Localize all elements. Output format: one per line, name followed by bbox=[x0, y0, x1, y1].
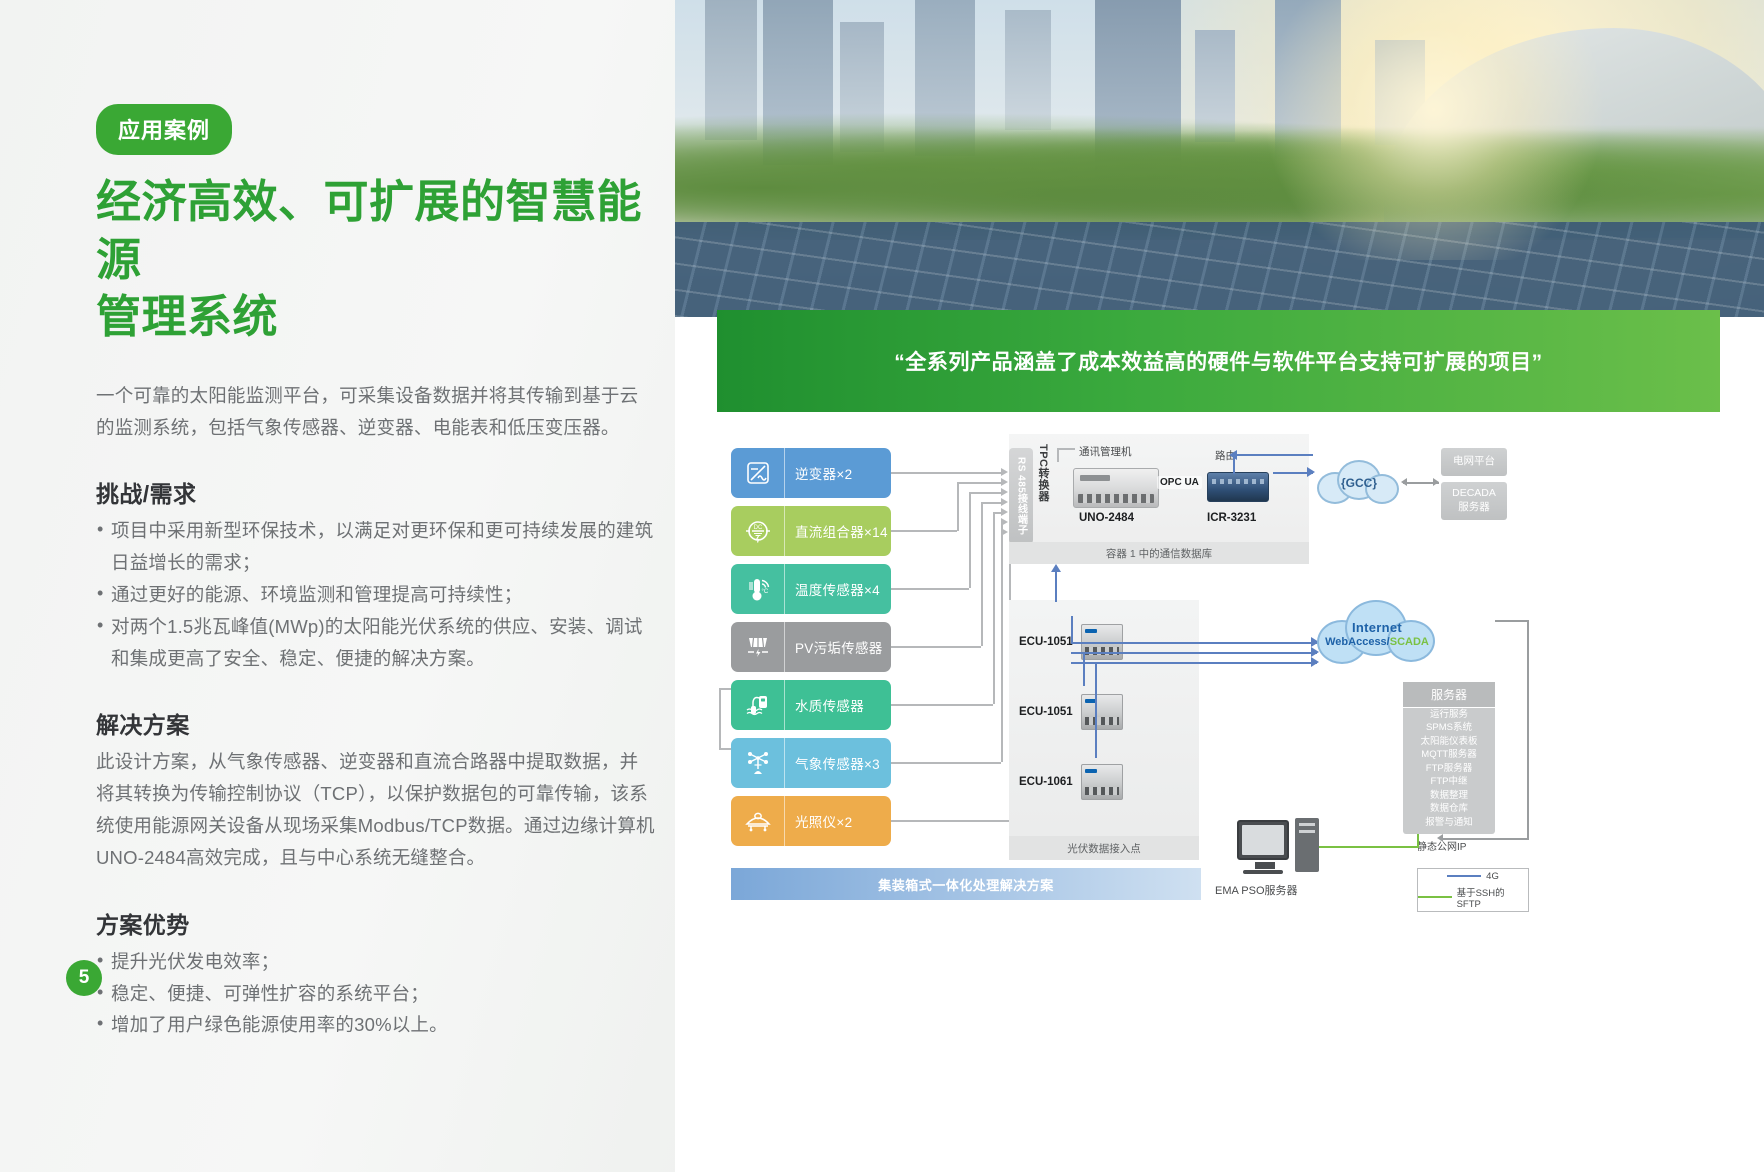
connector-line bbox=[891, 820, 1009, 822]
uno-2484-label: UNO-2484 bbox=[1079, 512, 1134, 524]
sensor-card-list: 逆变器×2 DC 直流组合器×14 °C 温度传感器×4 PV污垢传感器 bbox=[731, 448, 891, 854]
monitor-base bbox=[1243, 870, 1283, 874]
rs485-terminal-tab: RS 485接线端子 bbox=[1009, 448, 1033, 544]
connector-line bbox=[891, 646, 981, 648]
challenges-list: 项目中采用新型环保技术，以满足对更环保和更可持续发展的建筑日益增长的需求； 通过… bbox=[96, 515, 656, 674]
internet-cloud-text: Internet WebAccess/SCADA bbox=[1317, 600, 1437, 668]
monitor-screen bbox=[1242, 825, 1284, 855]
arrow-head bbox=[1001, 478, 1008, 486]
container-1-caption: 容器 1 中的通信数据库 bbox=[1009, 542, 1309, 564]
section-heading-solution: 解决方案 bbox=[96, 706, 656, 740]
legend-box: 4G 基于SSH的SFTP bbox=[1417, 868, 1529, 912]
connector-line bbox=[891, 704, 993, 706]
gcc-label: {GCC} bbox=[1317, 460, 1401, 506]
architecture-diagram: 逆变器×2 DC 直流组合器×14 °C 温度传感器×4 PV污垢传感器 bbox=[717, 420, 1739, 940]
benefits-list: 提升光伏发电效率； 稳定、便捷、可弹性扩容的系统平台； 增加了用户绿色能源使用率… bbox=[96, 946, 656, 1041]
sensor-card-label: 逆变器×2 bbox=[785, 448, 891, 498]
ecu-device-image bbox=[1081, 694, 1123, 730]
right-content-panel: “全系列产品涵盖了成本效益高的硬件与软件平台支持可扩展的项目” 逆变器×2 DC… bbox=[675, 0, 1764, 1172]
server-box-title: 服务器 bbox=[1403, 682, 1495, 708]
list-item: 项目中采用新型环保技术，以满足对更环保和更可持续发展的建筑日益增长的需求； bbox=[96, 515, 656, 579]
grid-platform-box: 电网平台 bbox=[1441, 448, 1507, 476]
connector-line bbox=[1071, 616, 1073, 642]
arrow-head bbox=[1229, 450, 1237, 460]
connector-line bbox=[969, 492, 971, 588]
ecu-device-image bbox=[1081, 764, 1123, 800]
webaccess-label: WebAccess/ bbox=[1325, 636, 1390, 648]
sensor-card-label: 直流组合器×14 bbox=[785, 506, 891, 556]
quote-text: “全系列产品涵盖了成本效益高的硬件与软件平台支持可扩展的项目” bbox=[894, 346, 1543, 376]
page-number-badge: 5 bbox=[66, 960, 102, 996]
legend-row: 4G bbox=[1447, 871, 1499, 882]
pv-panel-caption: 光伏数据接入点 bbox=[1009, 836, 1199, 860]
legend-label: 基于SSH的SFTP bbox=[1457, 885, 1528, 910]
connector-line bbox=[891, 530, 957, 532]
connector-line bbox=[1055, 570, 1057, 602]
icr-3231-label: ICR-3231 bbox=[1207, 512, 1256, 524]
connector-line bbox=[891, 472, 1001, 474]
tower-icon bbox=[1295, 818, 1319, 872]
internet-label: Internet bbox=[1352, 620, 1402, 635]
opc-ua-badge: OPC UA bbox=[1157, 476, 1202, 489]
scada-label: SCADA bbox=[1390, 636, 1429, 648]
sensor-card-inverter: 逆变器×2 bbox=[731, 448, 891, 498]
connector-line bbox=[891, 762, 1001, 764]
ecu-row: ECU-1061 bbox=[1019, 764, 1123, 800]
connector-line bbox=[719, 688, 721, 748]
legend-row: 基于SSH的SFTP bbox=[1418, 885, 1528, 910]
connector-line bbox=[891, 588, 969, 590]
list-item: 通过更好的能源、环境监测和管理提高可持续性； bbox=[96, 579, 656, 611]
arrow-head bbox=[1307, 467, 1315, 477]
connector-line bbox=[981, 502, 983, 646]
intro-paragraph: 一个可靠的太阳能监测平台，可采集设备数据并将其传输到基于云的监测系统，包括气象传… bbox=[96, 380, 656, 444]
tpc-converter-label: TPC转换器 bbox=[1035, 444, 1051, 502]
connector-line bbox=[1083, 652, 1085, 686]
arrow-head bbox=[1433, 478, 1439, 486]
sensor-card-label: 气象传感器×3 bbox=[785, 738, 891, 788]
server-item: 数据整理 bbox=[1430, 789, 1468, 802]
connector-line bbox=[957, 482, 959, 531]
list-item: 稳定、便捷、可弹性扩容的系统平台； bbox=[96, 978, 656, 1010]
integrated-solution-banner: 集装箱式一体化处理解决方案 bbox=[731, 868, 1201, 900]
inverter-icon bbox=[731, 448, 785, 498]
connector-line bbox=[981, 502, 1001, 504]
uno-2484-device-image bbox=[1073, 468, 1159, 508]
hero-photo bbox=[675, 0, 1764, 317]
svg-text:DC: DC bbox=[753, 525, 762, 531]
server-item: FTP服务器 bbox=[1426, 762, 1472, 775]
connector-line bbox=[1071, 652, 1317, 654]
arrow-head bbox=[1001, 488, 1008, 496]
legend-swatch-4g bbox=[1447, 875, 1481, 877]
sensor-card-label: PV污垢传感器 bbox=[785, 622, 891, 672]
server-item: 运行服务 bbox=[1430, 708, 1468, 721]
icr-3231-device-image bbox=[1207, 472, 1269, 502]
pyranometer-icon bbox=[731, 796, 785, 846]
sensor-card-temperature: °C 温度传感器×4 bbox=[731, 564, 891, 614]
ecu-row: ECU-1051 bbox=[1019, 694, 1123, 730]
connector-line bbox=[957, 482, 1001, 484]
tree-line bbox=[675, 110, 1764, 240]
legend-label: 4G bbox=[1486, 871, 1499, 882]
connector-line bbox=[1071, 642, 1317, 644]
decada-server-box: DECADA 服务器 bbox=[1441, 482, 1507, 520]
server-item: 报警与通知 bbox=[1425, 816, 1473, 829]
connector-line bbox=[1071, 662, 1317, 664]
connector-line bbox=[969, 492, 1001, 494]
solar-panel-field bbox=[675, 222, 1764, 317]
sensor-card-dc-combiner: DC 直流组合器×14 bbox=[731, 506, 891, 556]
pv-soiling-icon bbox=[731, 622, 785, 672]
comm-manager-label: 通讯管理机 bbox=[1079, 444, 1132, 459]
thermometer-icon: °C bbox=[731, 564, 785, 614]
section-heading-challenges: 挑战/需求 bbox=[96, 475, 656, 509]
connector-line bbox=[993, 512, 1001, 514]
water-quality-icon bbox=[731, 680, 785, 730]
left-content-panel: 应用案例 经济高效、可扩展的智慧能源 管理系统 一个可靠的太阳能监测平台，可采集… bbox=[0, 0, 762, 1172]
sensor-card-label: 光照仪×2 bbox=[785, 796, 891, 846]
sensor-card-pv-soiling: PV污垢传感器 bbox=[731, 622, 891, 672]
connector-line bbox=[1527, 620, 1529, 840]
solution-paragraph: 此设计方案，从气象传感器、逆变器和直流合路器中提取数据，并将其转换为传输控制协议… bbox=[96, 746, 656, 873]
connector-line bbox=[719, 748, 731, 750]
static-public-ip-label: 静态公网IP bbox=[1417, 838, 1466, 853]
connector-line bbox=[719, 688, 731, 690]
list-item: 对两个1.5兆瓦峰值(MWp)的太阳能光伏系统的供应、安装、调试和集成更高了安全… bbox=[96, 611, 656, 675]
list-item: 增加了用户绿色能源使用率的30%以上。 bbox=[96, 1009, 656, 1041]
server-box: 服务器 运行服务 SPMS系统 太阳能仪表板 MQTT服务器 FTP服务器 FT… bbox=[1403, 682, 1495, 834]
gcc-cloud: {GCC} bbox=[1317, 460, 1401, 506]
monitor-icon bbox=[1237, 820, 1289, 860]
server-item: 太阳能仪表板 bbox=[1420, 735, 1477, 748]
sensor-card-weather: 气象传感器×3 bbox=[731, 738, 891, 788]
connector-line bbox=[1001, 522, 1003, 762]
arrow-head bbox=[1001, 528, 1008, 536]
ecu-label: ECU-1051 bbox=[1019, 706, 1081, 718]
page-title: 经济高效、可扩展的智慧能源 管理系统 bbox=[96, 173, 656, 346]
server-item: FTP中继 bbox=[1431, 775, 1468, 788]
svg-text:°C: °C bbox=[761, 589, 768, 595]
connector-line bbox=[1233, 454, 1313, 456]
dc-combiner-icon: DC bbox=[731, 506, 785, 556]
connector-line bbox=[1495, 620, 1529, 622]
arrow-head bbox=[1051, 564, 1061, 572]
list-item: 提升光伏发电效率； bbox=[96, 946, 656, 978]
connector-line bbox=[1095, 662, 1097, 758]
server-item: 数据仓库 bbox=[1430, 802, 1468, 815]
sensor-card-label: 水质传感器 bbox=[785, 680, 891, 730]
ecu-label: ECU-1061 bbox=[1019, 776, 1081, 788]
ema-pso-server-label: EMA PSO服务器 bbox=[1215, 882, 1298, 898]
sensor-card-pyranometer: 光照仪×2 bbox=[731, 796, 891, 846]
pv-data-access-panel: ECU-1051 ECU-1051 ECU-1061 光伏数据接入点 bbox=[1009, 600, 1199, 860]
connector-line bbox=[993, 512, 995, 704]
left-inner-column: 应用案例 经济高效、可扩展的智慧能源 管理系统 一个可靠的太阳能监测平台，可采集… bbox=[96, 0, 656, 1041]
section-heading-benefits: 方案优势 bbox=[96, 906, 656, 940]
anemometer-icon bbox=[731, 738, 785, 788]
sensor-card-label: 温度传感器×4 bbox=[785, 564, 891, 614]
case-study-badge: 应用案例 bbox=[96, 104, 232, 155]
arrow-head bbox=[1001, 498, 1008, 506]
callout-line bbox=[1057, 448, 1075, 450]
arrow-head bbox=[1001, 508, 1008, 516]
server-item: SPMS系统 bbox=[1426, 721, 1472, 734]
connector-line bbox=[1313, 846, 1419, 848]
sensor-card-water-quality: 水质传感器 bbox=[731, 680, 891, 730]
rs485-terminal-label: RS 485接线端子 bbox=[1014, 457, 1029, 535]
server-item: MQTT服务器 bbox=[1421, 748, 1476, 761]
arrow-head bbox=[1401, 478, 1407, 486]
legend-swatch-sftp bbox=[1418, 896, 1452, 898]
arrow-head bbox=[1001, 518, 1008, 526]
internet-cloud: Internet WebAccess/SCADA bbox=[1317, 600, 1437, 668]
quote-banner: “全系列产品涵盖了成本效益高的硬件与软件平台支持可扩展的项目” bbox=[717, 310, 1720, 412]
callout-line bbox=[1057, 448, 1059, 462]
arrow-head bbox=[1001, 468, 1008, 476]
webaccess-scada-label: WebAccess/SCADA bbox=[1325, 636, 1429, 648]
